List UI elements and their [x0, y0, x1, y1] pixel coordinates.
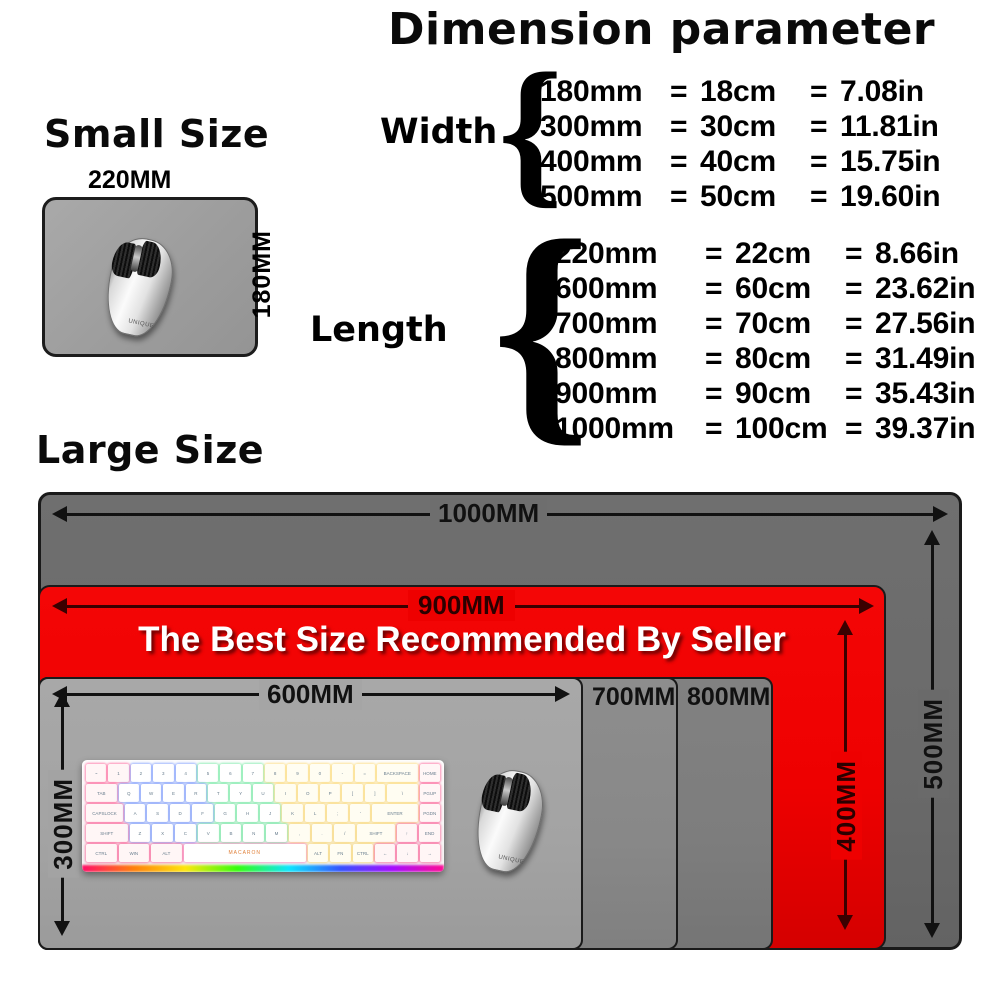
width-in-1: 11.81in: [840, 109, 970, 144]
width-eq2-0: =: [810, 74, 840, 109]
key: 8: [265, 764, 285, 782]
width-mm-2: 400mm: [540, 144, 670, 179]
key-ctrl-right: CTRL: [353, 844, 373, 862]
length-mm-5: 1000mm: [555, 411, 705, 446]
length-eq2-5: =: [845, 411, 875, 446]
length-cm-0: 22cm: [735, 236, 845, 271]
region-700mm-label: 700MM: [592, 683, 675, 712]
key: M: [266, 824, 287, 842]
keyboard-row-4: SHIFT Z X C V B N M , . / SHIFT ↑ END: [86, 824, 440, 842]
key: 1: [108, 764, 128, 782]
key: 6: [220, 764, 240, 782]
table-row: 600mm=60cm=23.62in: [555, 271, 1000, 306]
key-alt-right: ALT: [308, 844, 328, 862]
width-in-3: 19.60in: [840, 179, 970, 214]
large-size-heading: Large Size: [36, 428, 264, 472]
key-shift-right: SHIFT: [357, 824, 394, 842]
key: W: [141, 784, 161, 802]
length-eq1-4: =: [705, 376, 735, 411]
length-eq2-1: =: [845, 271, 875, 306]
key: 2: [131, 764, 151, 782]
length-eq1-3: =: [705, 341, 735, 376]
key: 5: [198, 764, 218, 782]
key-end: END: [419, 824, 440, 842]
key: ~: [86, 764, 106, 782]
key: H: [237, 804, 258, 822]
key: X: [152, 824, 173, 842]
key: P: [320, 784, 340, 802]
key: ;: [327, 804, 348, 822]
key: 7: [243, 764, 263, 782]
key: C: [175, 824, 196, 842]
key: K: [282, 804, 303, 822]
length-eq2-2: =: [845, 306, 875, 341]
length-mm-1: 600mm: [555, 271, 705, 306]
key: L: [305, 804, 326, 822]
rgb-underglow: [82, 865, 444, 872]
width-mm-1: 300mm: [540, 109, 670, 144]
length-cm-4: 90cm: [735, 376, 845, 411]
table-row: 800mm=80cm=31.49in: [555, 341, 1000, 376]
key-home: HOME: [420, 764, 440, 782]
length-eq1-5: =: [705, 411, 735, 446]
length-eq1-1: =: [705, 271, 735, 306]
key: D: [170, 804, 191, 822]
width-in-0: 7.08in: [840, 74, 970, 109]
width-eq2-1: =: [810, 109, 840, 144]
key: 0: [310, 764, 330, 782]
best-size-banner-text: The Best Size Recommended By Seller: [38, 620, 886, 660]
key: J: [260, 804, 281, 822]
keyboard-row-2: TAB Q W E R T Y U I O P [ ] \ PGUP: [86, 784, 440, 802]
keyboard-row-1: ~ 1 2 3 4 5 6 7 8 9 0 - = BACKSPACE HOME: [86, 764, 440, 782]
key-arrow-right: →: [420, 844, 440, 862]
width-cm-3: 50cm: [700, 179, 810, 214]
key-ctrl-left: CTRL: [86, 844, 117, 862]
table-row: 400mm=40cm=15.75in: [540, 144, 970, 179]
length-cm-1: 60cm: [735, 271, 845, 306]
key-alt-left: ALT: [151, 844, 182, 862]
length-in-1: 23.62in: [875, 271, 1000, 306]
length-eq2-0: =: [845, 236, 875, 271]
measure-600mm-label: 600MM: [259, 679, 362, 710]
key: R: [186, 784, 206, 802]
key-backspace: BACKSPACE: [377, 764, 418, 782]
length-in-5: 39.37in: [875, 411, 1000, 446]
key: U: [253, 784, 273, 802]
width-group-label: Width: [380, 112, 497, 152]
length-in-4: 35.43in: [875, 376, 1000, 411]
length-eq1-0: =: [705, 236, 735, 271]
key-tab: TAB: [86, 784, 117, 802]
key-win: WIN: [119, 844, 150, 862]
keyboard-row-3: CAPSLOCK A S D F G H J K L ; ' ENTER PGD…: [86, 804, 440, 822]
key: 9: [287, 764, 307, 782]
width-eq1-0: =: [670, 74, 700, 109]
key: ,: [289, 824, 310, 842]
length-in-3: 31.49in: [875, 341, 1000, 376]
width-cm-1: 30cm: [700, 109, 810, 144]
key-pgdn: PGDN: [420, 804, 441, 822]
key-capslock: CAPSLOCK: [86, 804, 123, 822]
key: \: [387, 784, 418, 802]
measure-500mm-label: 500MM: [918, 690, 949, 798]
key: N: [243, 824, 264, 842]
key: O: [298, 784, 318, 802]
length-in-0: 8.66in: [875, 236, 1000, 271]
region-800mm-label: 800MM: [687, 683, 770, 712]
length-eq2-3: =: [845, 341, 875, 376]
width-rows: 180mm=18cm=7.08in 300mm=30cm=11.81in 400…: [540, 74, 970, 214]
length-mm-3: 800mm: [555, 341, 705, 376]
key-enter: ENTER: [372, 804, 417, 822]
key-pgup: PGUP: [420, 784, 440, 802]
length-mm-4: 900mm: [555, 376, 705, 411]
table-row: 220mm=22cm=8.66in: [555, 236, 1000, 271]
width-eq1-1: =: [670, 109, 700, 144]
key: A: [125, 804, 146, 822]
large-pad-mouse-icon: UNIQUE: [478, 770, 540, 872]
table-row: 300mm=30cm=11.81in: [540, 109, 970, 144]
key-fn: FN: [330, 844, 350, 862]
width-eq1-2: =: [670, 144, 700, 179]
key-spacebar: MACARON: [184, 844, 306, 862]
length-in-2: 27.56in: [875, 306, 1000, 341]
width-eq2-2: =: [810, 144, 840, 179]
length-cm-5: 100cm: [735, 411, 845, 446]
key: ]: [365, 784, 385, 802]
length-eq1-2: =: [705, 306, 735, 341]
width-eq2-3: =: [810, 179, 840, 214]
key: /: [334, 824, 355, 842]
length-cm-2: 70cm: [735, 306, 845, 341]
measure-300mm-label: 300MM: [48, 770, 79, 878]
key: ': [350, 804, 371, 822]
small-pad-height-label: 180MM: [248, 230, 277, 318]
key: B: [221, 824, 242, 842]
key-shift-left: SHIFT: [86, 824, 128, 842]
key: Y: [230, 784, 250, 802]
key: V: [198, 824, 219, 842]
key: 3: [153, 764, 173, 782]
key: T: [208, 784, 228, 802]
key: G: [215, 804, 236, 822]
length-eq2-4: =: [845, 376, 875, 411]
key: =: [355, 764, 375, 782]
small-pad-width-label: 220MM: [88, 166, 171, 195]
page-title: Dimension parameter: [388, 4, 935, 55]
key: 4: [176, 764, 196, 782]
width-cm-0: 18cm: [700, 74, 810, 109]
key: -: [332, 764, 352, 782]
rgb-keyboard-illustration: ~ 1 2 3 4 5 6 7 8 9 0 - = BACKSPACE HOME…: [82, 760, 444, 872]
length-mm-2: 700mm: [555, 306, 705, 341]
key: .: [312, 824, 333, 842]
measure-1000mm-label: 1000MM: [430, 498, 547, 529]
key: F: [192, 804, 213, 822]
table-row: 900mm=90cm=35.43in: [555, 376, 1000, 411]
key: Z: [130, 824, 151, 842]
key: S: [147, 804, 168, 822]
width-cm-2: 40cm: [700, 144, 810, 179]
length-cm-3: 80cm: [735, 341, 845, 376]
key: Q: [119, 784, 139, 802]
width-in-2: 15.75in: [840, 144, 970, 179]
measure-400mm-label: 400MM: [831, 752, 862, 860]
table-row: 700mm=70cm=27.56in: [555, 306, 1000, 341]
small-size-heading: Small Size: [44, 112, 269, 156]
table-row: 1000mm=100cm=39.37in: [555, 411, 1000, 446]
table-row: 180mm=18cm=7.08in: [540, 74, 970, 109]
key: E: [163, 784, 183, 802]
length-group-label: Length: [310, 310, 448, 350]
key-arrow-up: ↑: [397, 824, 418, 842]
width-eq1-3: =: [670, 179, 700, 214]
keyboard-row-5: CTRL WIN ALT MACARON ALT FN CTRL ← ↓ →: [86, 844, 440, 862]
table-row: 500mm=50cm=19.60in: [540, 179, 970, 214]
small-pad-mouse-icon: UNIQUE: [108, 238, 170, 336]
key: I: [275, 784, 295, 802]
length-rows: 220mm=22cm=8.66in 600mm=60cm=23.62in 700…: [555, 236, 1000, 446]
length-mm-0: 220mm: [555, 236, 705, 271]
key-arrow-down: ↓: [397, 844, 417, 862]
key-arrow-left: ←: [375, 844, 395, 862]
measure-900mm-label: 900MM: [408, 590, 515, 621]
width-mm-0: 180mm: [540, 74, 670, 109]
key: [: [342, 784, 362, 802]
